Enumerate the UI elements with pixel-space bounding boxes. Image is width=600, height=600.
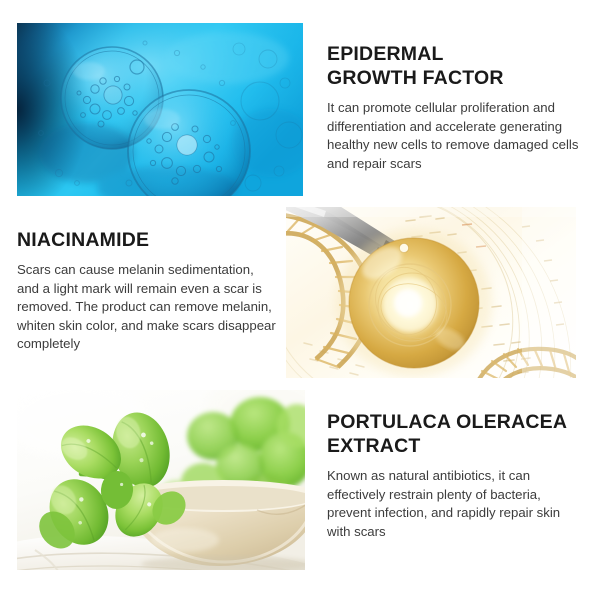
section-image-portulaca-oleracea-extract	[17, 390, 305, 570]
section-body-epidermal-growth-factor: It can promote cellular proliferation an…	[327, 99, 585, 173]
section-text-epidermal-growth-factor: EPIDERMAL GROWTH FACTOR It can promote c…	[327, 42, 585, 173]
section-body-portulaca-oleracea-extract: Known as natural antibiotics, it can eff…	[327, 467, 585, 541]
section-title-portulaca-oleracea-extract: PORTULACA OLERACEA EXTRACT	[327, 410, 585, 458]
section-text-niacinamide: NIACINAMIDE Scars can cause melanin sedi…	[17, 228, 279, 354]
section-body-niacinamide: Scars can cause melanin sedimentation, a…	[17, 261, 279, 354]
infographic-page: EPIDERMAL GROWTH FACTOR It can promote c…	[0, 0, 600, 600]
section-text-portulaca-oleracea-extract: PORTULACA OLERACEA EXTRACT Known as natu…	[327, 410, 585, 541]
section-image-niacinamide	[286, 207, 576, 378]
section-image-epidermal-growth-factor	[17, 23, 303, 196]
section-title-niacinamide: NIACINAMIDE	[17, 228, 279, 252]
section-title-epidermal-growth-factor: EPIDERMAL GROWTH FACTOR	[327, 42, 585, 90]
